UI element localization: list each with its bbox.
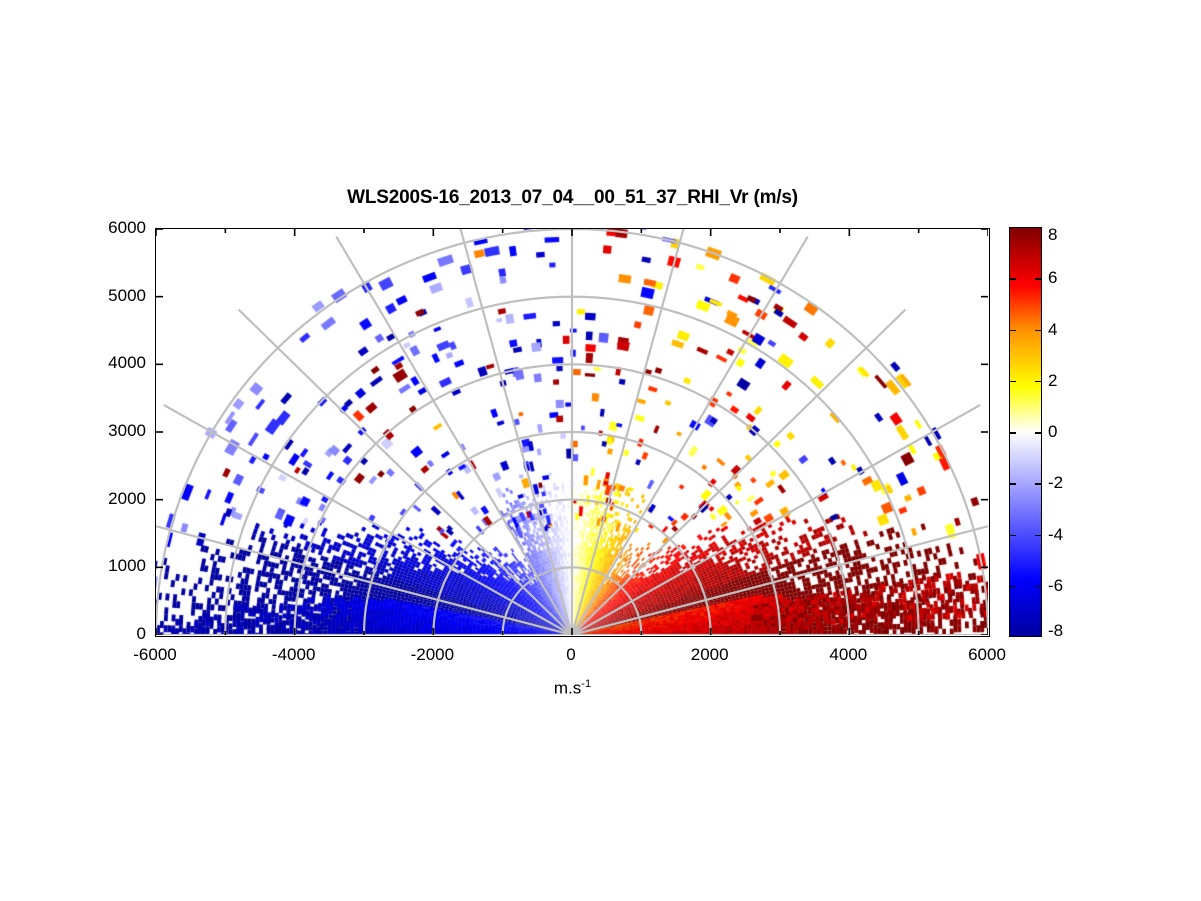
colorbar-label-0: 0	[1048, 422, 1057, 442]
x-axis-tick-labels: -6000-4000-20000200040006000	[155, 645, 990, 671]
colorbar-label-4: 4	[1048, 320, 1057, 340]
colorbar-label--6: -6	[1048, 576, 1063, 596]
x-tick--2000: -2000	[411, 645, 454, 665]
colorbar-label--8: -8	[1048, 621, 1063, 641]
x-tick--4000: -4000	[272, 645, 315, 665]
colorbar	[1009, 227, 1042, 637]
colorbar-gradient	[1010, 228, 1041, 636]
y-tick-3000: 3000	[108, 421, 146, 441]
colorbar-label-6: 6	[1048, 268, 1057, 288]
y-tick-6000: 6000	[108, 218, 146, 238]
x-axis-label-text: m.s	[554, 679, 581, 698]
y-tick-1000: 1000	[108, 556, 146, 576]
figure-canvas: WLS200S-16_2013_07_04__00_51_37_RHI_Vr (…	[0, 0, 1201, 901]
colorbar-label-2: 2	[1048, 371, 1057, 391]
x-tick-4000: 4000	[829, 645, 867, 665]
colorbar-tick-labels: 86420-2-4-6-8	[1048, 227, 1098, 637]
y-tick-4000: 4000	[108, 353, 146, 373]
x-axis-label-exponent: -1	[581, 678, 591, 690]
x-tick-2000: 2000	[691, 645, 729, 665]
y-axis-tick-labels: 0100020003000400050006000	[40, 228, 146, 637]
x-tick-0: 0	[566, 645, 575, 665]
plot-axes-area	[155, 228, 990, 637]
colorbar-label--2: -2	[1048, 473, 1063, 493]
colorbar-label-8: 8	[1048, 225, 1057, 245]
y-tick-0: 0	[137, 624, 146, 644]
x-tick-6000: 6000	[968, 645, 1006, 665]
y-tick-2000: 2000	[108, 489, 146, 509]
x-tick--6000: -6000	[133, 645, 176, 665]
x-axis-label: m.s-1	[155, 678, 990, 699]
plot-title: WLS200S-16_2013_07_04__00_51_37_RHI_Vr (…	[155, 187, 990, 209]
y-tick-5000: 5000	[108, 286, 146, 306]
rhi-scan-plot	[156, 229, 988, 635]
colorbar-label--4: -4	[1048, 525, 1063, 545]
